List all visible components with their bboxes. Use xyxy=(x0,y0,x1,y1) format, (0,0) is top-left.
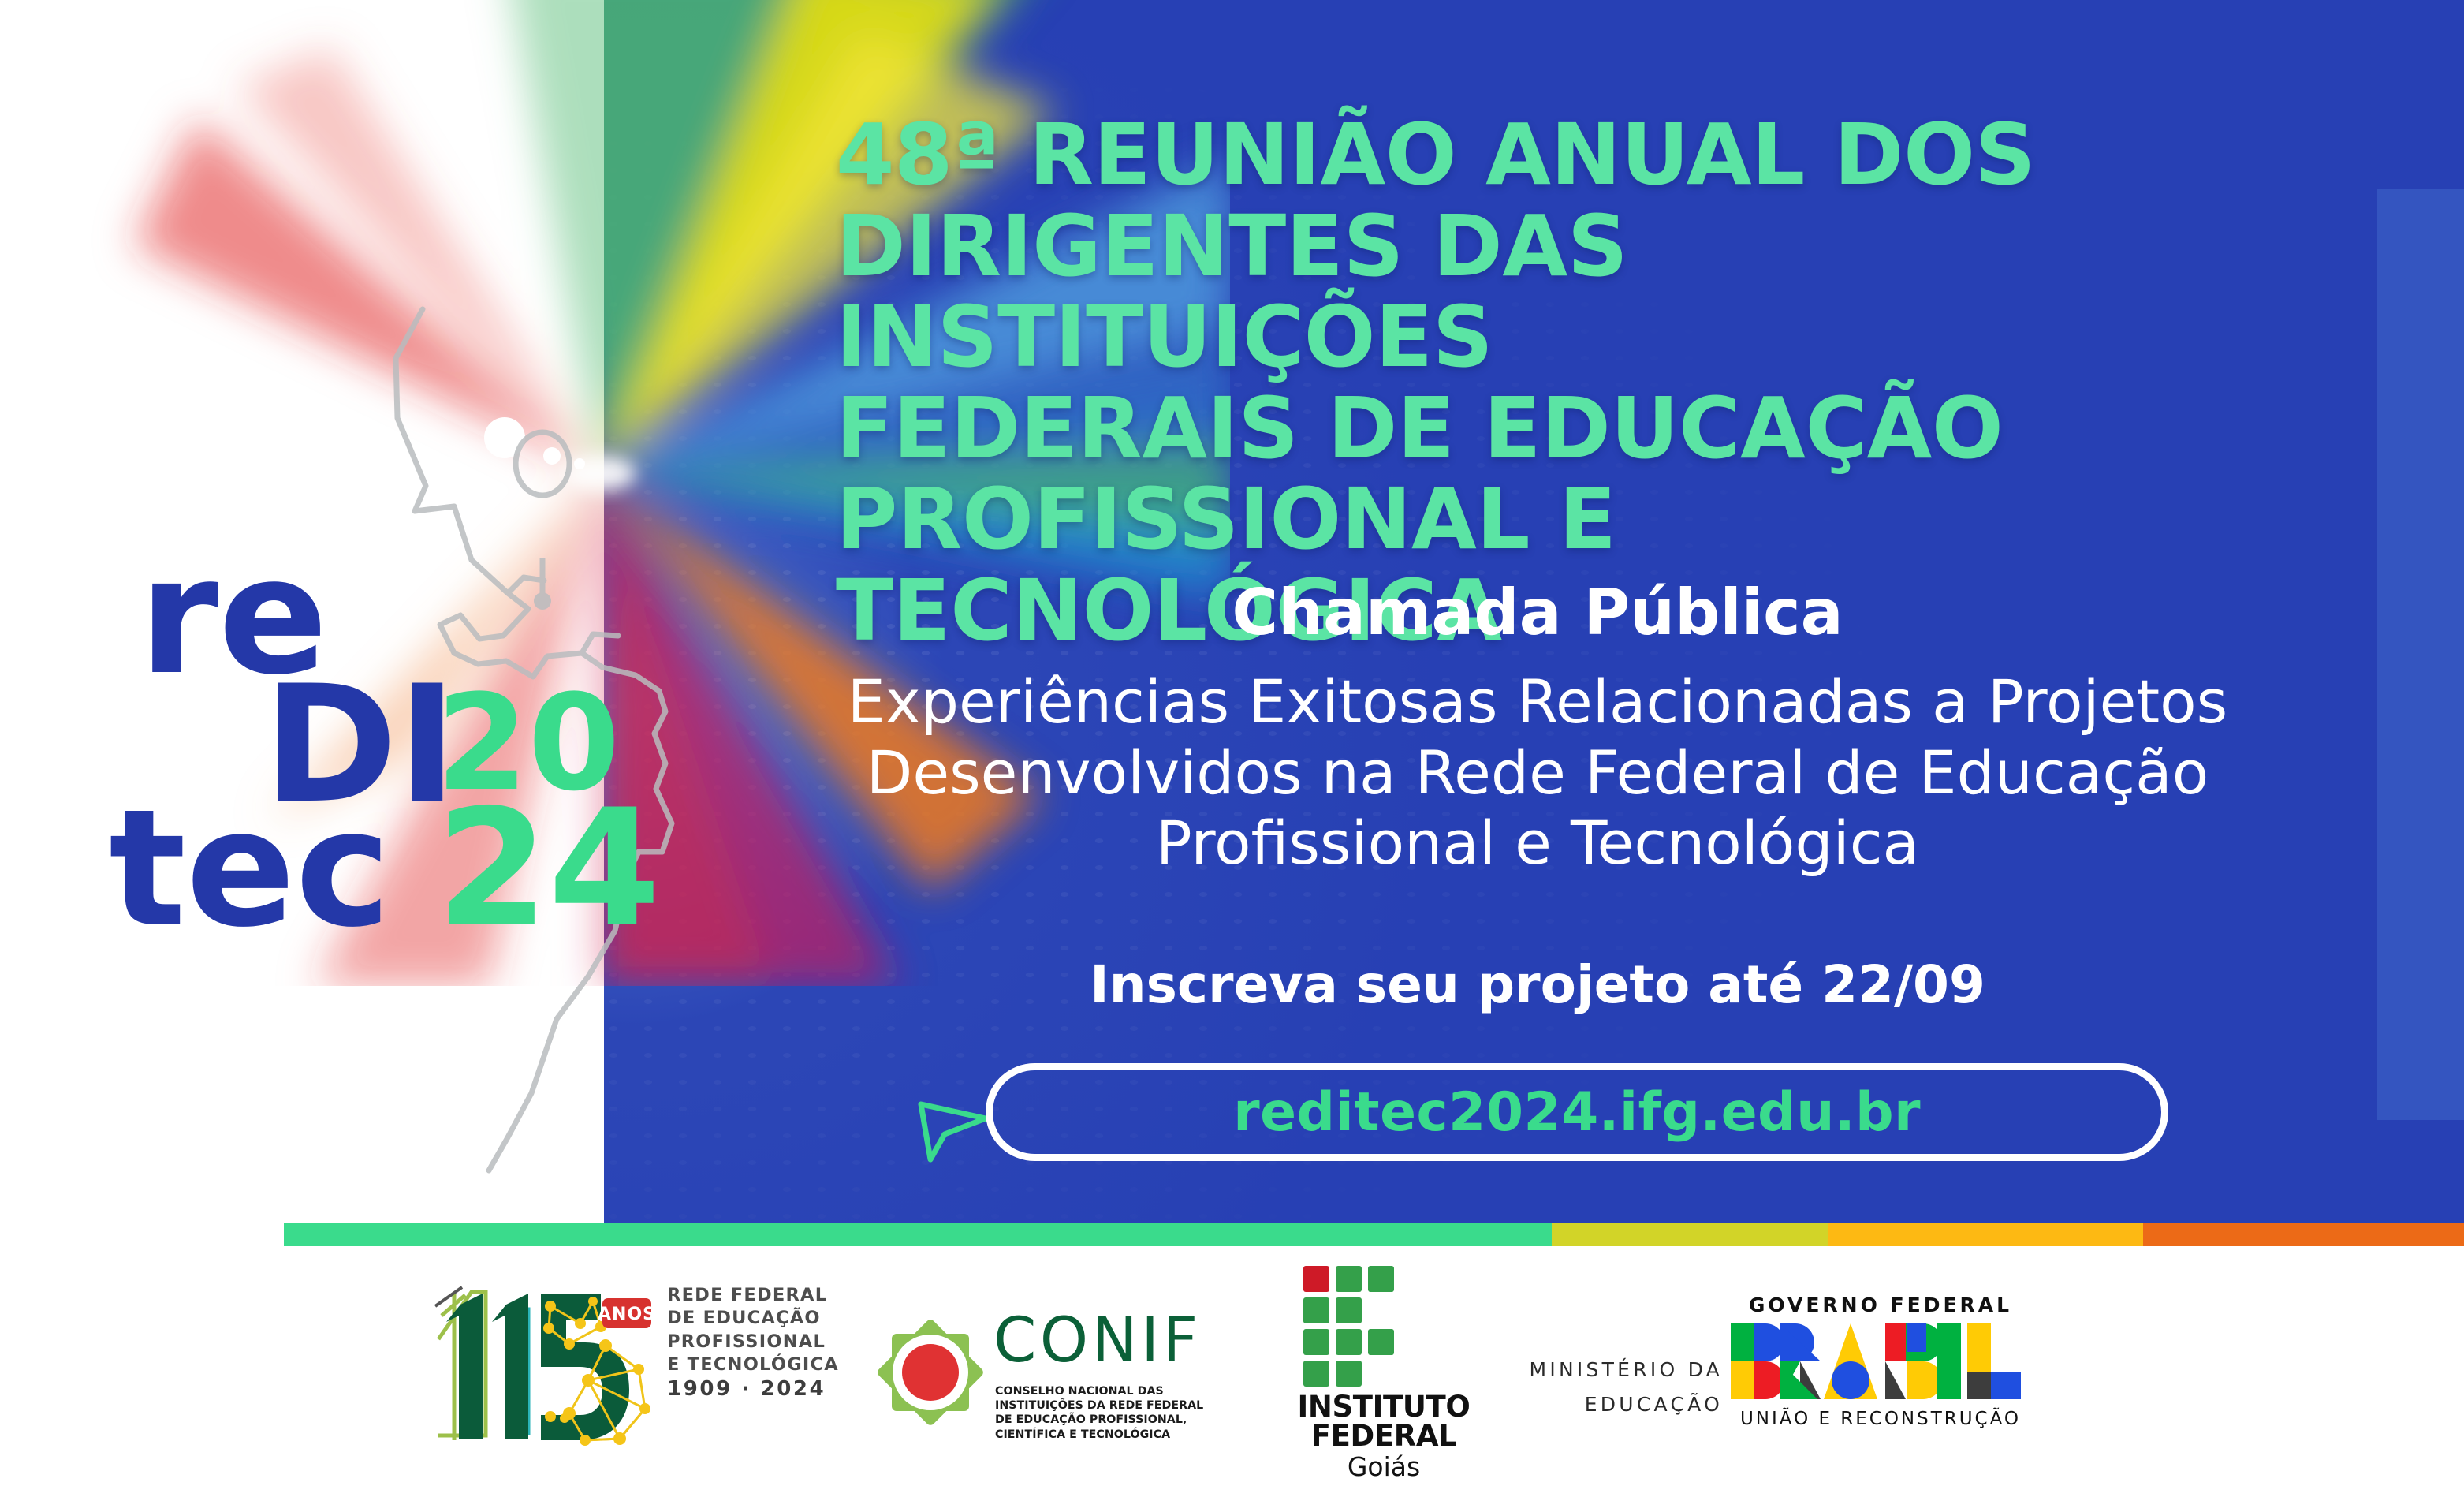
conif-wordmark: CONIF xyxy=(993,1310,1202,1372)
main-content: 48ª REUNIÃO ANUAL DOS DIRIGENTES DAS INS… xyxy=(710,0,2365,1223)
stripe-segment-yellowgreen xyxy=(1552,1223,1828,1246)
brasil-brandmark-icon xyxy=(1731,1323,2030,1399)
rede-federal-115-anos-logo: ANOS REDE FEDERAL DE EDUCAÇÃO PROFISSION… xyxy=(431,1278,841,1459)
governo-federal-brasil-logo: GOVERNO FEDERAL xyxy=(1731,1294,2030,1451)
uniao-reconstrucao-text: UNIÃO E RECONSTRUÇÃO xyxy=(1731,1409,2030,1429)
rede-federal-wordmark: REDE FEDERAL DE EDUCAÇÃO PROFISSIONAL E … xyxy=(667,1284,848,1403)
submission-deadline: Inscreva seu projeto até 22/09 xyxy=(710,959,2365,1011)
rede-federal-line-1: REDE FEDERAL xyxy=(667,1284,848,1307)
event-title-line-2: DIRIGENTES DAS INSTITUIÇÕES xyxy=(836,202,2287,384)
color-stripe xyxy=(284,1223,2464,1246)
stripe-segment-yellow xyxy=(1828,1223,2143,1246)
ministerio-line-2: EDUCAÇÃO xyxy=(1502,1387,1723,1422)
call-description-line-1: Experiências Exitosas Relacionadas a Pro… xyxy=(710,666,2365,737)
right-accent-panel xyxy=(2377,189,2464,1120)
event-title-line-3: FEDERAIS DE EDUCAÇÃO xyxy=(836,384,2287,476)
ministerio-da-educacao-wordmark: MINISTÉRIO DA EDUCAÇÃO xyxy=(1502,1353,1723,1422)
cursor-arrow-icon xyxy=(910,1082,995,1164)
rede-federal-line-4: E TECNOLÓGICA xyxy=(667,1353,848,1376)
if-text-instituto: INSTITUTO xyxy=(1281,1392,1486,1421)
reditec-2024-poster: re DI tec 20 24 48ª REUNIÃO ANUAL DOS DI… xyxy=(0,0,2464,1512)
website-url-text[interactable]: reditec2024.ifg.edu.br xyxy=(1233,1081,1921,1144)
conif-tagline-line-1: CONSELHO NACIONAL DAS INSTITUIÇÕES DA RE… xyxy=(995,1384,1232,1413)
conif-tagline-line-2: DE EDUCAÇÃO PROFISSIONAL, CIENTÍFICA E T… xyxy=(995,1413,1232,1441)
if-text-federal: FEDERAL xyxy=(1281,1421,1486,1450)
call-description-line-3: Profissional e Tecnológica xyxy=(710,808,2365,879)
conif-logo: CONIF CONSELHO NACIONAL DAS INSTITUIÇÕES… xyxy=(871,1313,1226,1447)
event-title-line-1: 48ª REUNIÃO ANUAL DOS xyxy=(836,110,2287,202)
call-heading: Chamada Pública xyxy=(710,580,2365,647)
reditec-logo: re DI tec 20 24 xyxy=(117,536,606,954)
conif-tagline: CONSELHO NACIONAL DAS INSTITUIÇÕES DA RE… xyxy=(995,1384,1232,1442)
website-url-pill[interactable]: reditec2024.ifg.edu.br xyxy=(986,1063,2168,1161)
footer-logo-bar xyxy=(0,1246,2464,1512)
if-grid-icon xyxy=(1303,1266,1398,1386)
conif-flower-icon xyxy=(871,1313,990,1432)
rede-federal-line-3: PROFISSIONAL xyxy=(667,1331,848,1353)
ministerio-line-1: MINISTÉRIO DA xyxy=(1502,1353,1723,1387)
call-description: Experiências Exitosas Relacionadas a Pro… xyxy=(710,666,2365,879)
rede-federal-line-2: DE EDUCAÇÃO xyxy=(667,1307,848,1330)
instituto-federal-goias-logo: INSTITUTO FEDERAL Goiás xyxy=(1281,1266,1486,1503)
logo-text-tec: tec xyxy=(109,789,391,950)
logo-text-24: 24 xyxy=(436,789,661,950)
website-cta[interactable]: reditec2024.ifg.edu.br xyxy=(910,1063,2168,1161)
stripe-segment-green xyxy=(284,1223,1552,1246)
if-text-goias: Goiás xyxy=(1281,1453,1486,1481)
rede-federal-years: 1909 · 2024 xyxy=(667,1376,848,1403)
governo-federal-text: GOVERNO FEDERAL xyxy=(1731,1294,2030,1316)
stripe-segment-orange xyxy=(2143,1223,2464,1246)
svg-text:ANOS: ANOS xyxy=(598,1305,656,1324)
call-description-line-2: Desenvolvidos na Rede Federal de Educaçã… xyxy=(710,737,2365,808)
